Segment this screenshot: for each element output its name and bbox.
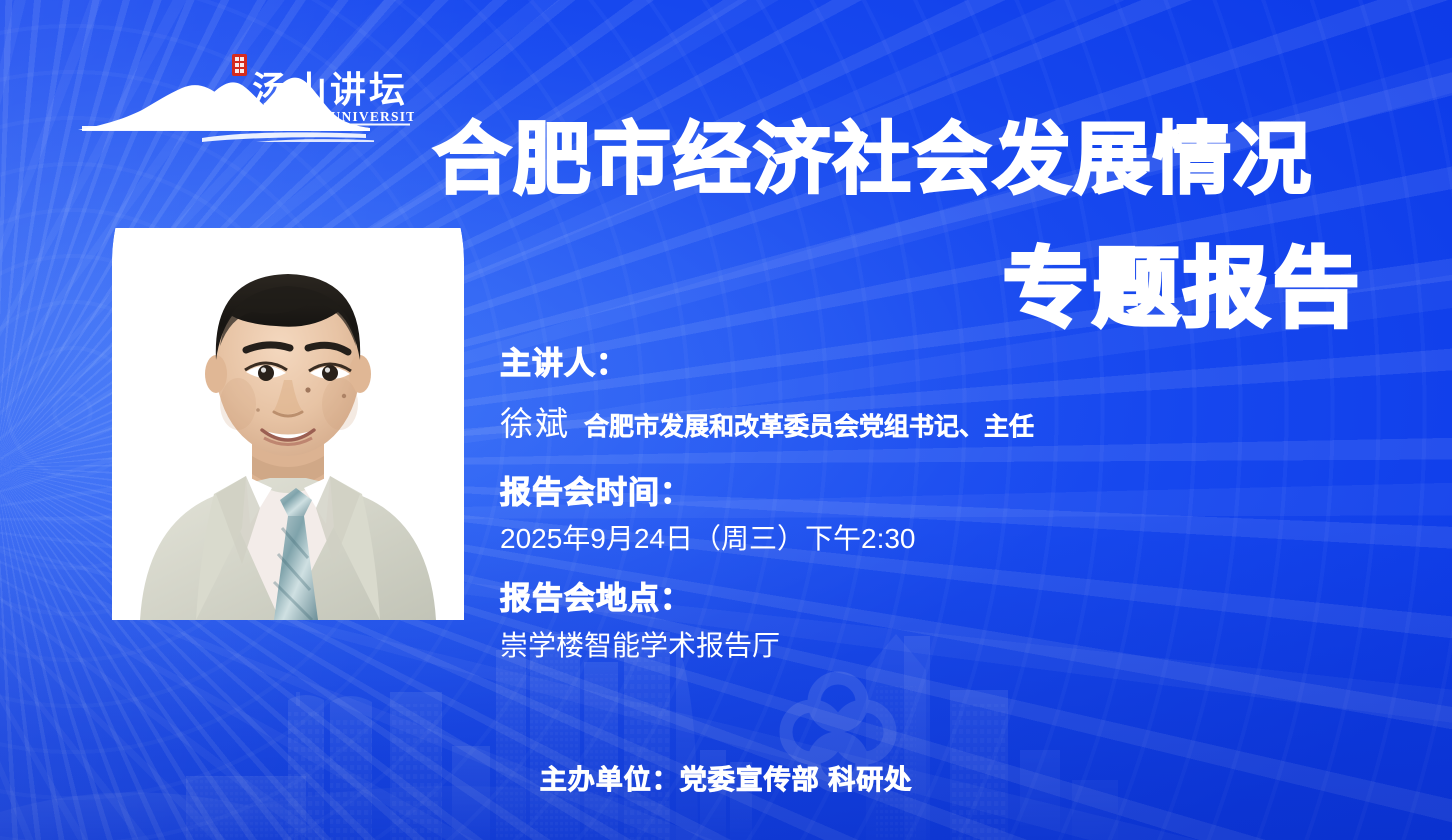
poster-title-line2: 专题报告 (433, 246, 1363, 334)
logo-wordmark-cn: 汤山讲坛 (252, 70, 408, 111)
poster-title-line1: 合肥市经济社会发展情况 (433, 120, 1363, 200)
venue-label: 报告会地点： (500, 579, 1390, 618)
logo-wordmark-en: CHAOHU UNIVERSITY (258, 109, 414, 124)
venue-value: 崇学楼智能学术报告厅 (500, 628, 1390, 664)
chaohu-university-logo: 汤山讲坛 CHAOHU UNIVERSITY (74, 52, 414, 142)
organizer-text: 主办单位：党委宣传部 科研处 (540, 758, 913, 797)
red-seal-icon (232, 54, 247, 76)
event-details: 主讲人： 徐斌 合肥市发展和改革委员会党组书记、主任 报告会时间： 2025年9… (500, 344, 1390, 664)
speaker-row: 徐斌 合肥市发展和改革委员会党组书记、主任 (500, 397, 1390, 445)
speaker-name: 徐斌 (500, 397, 570, 445)
speaker-label: 主讲人： (500, 344, 1390, 383)
organizer-footer: 主办单位：党委宣传部 科研处 (0, 758, 1452, 797)
time-label: 报告会时间： (500, 473, 1390, 512)
speaker-portrait (112, 228, 464, 620)
time-value: 2025年9月24日（周三）下午2:30 (500, 521, 1390, 557)
logo-artwork: 汤山讲坛 CHAOHU UNIVERSITY (74, 52, 414, 142)
speaker-portrait-image (112, 228, 464, 620)
event-poster: 汤山讲坛 CHAOHU UNIVERSITY (0, 0, 1452, 840)
speaker-job-title: 合肥市发展和改革委员会党组书记、主任 (584, 407, 1034, 443)
